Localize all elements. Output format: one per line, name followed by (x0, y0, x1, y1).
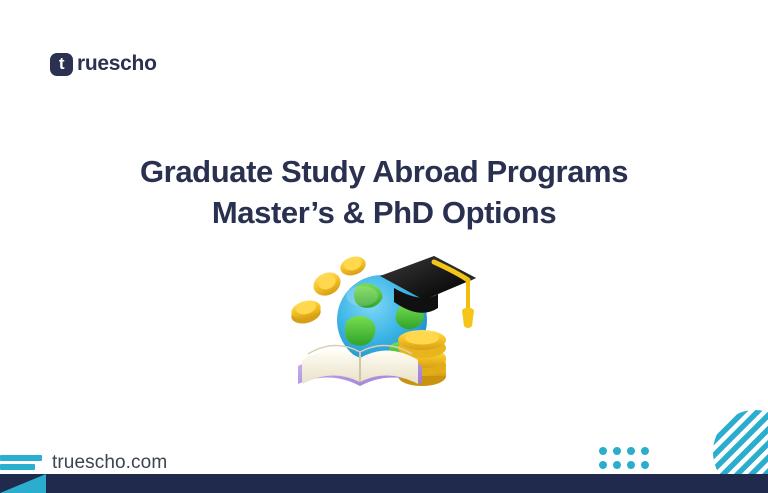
accent-bar-bottom (0, 464, 35, 470)
grid-dot (627, 461, 635, 469)
grid-dot (613, 461, 621, 469)
grid-dot (599, 447, 607, 455)
page-title-line-2: Master’s & PhD Options (0, 193, 768, 234)
floating-coin-icon (310, 268, 345, 300)
grid-dot (641, 447, 649, 455)
page-title-line-1: Graduate Study Abroad Programs (0, 152, 768, 193)
footer-website-url[interactable]: truescho.com (52, 452, 167, 474)
floating-coin-icon (289, 297, 323, 326)
grid-dot (641, 461, 649, 469)
footer-accent-bars (0, 455, 42, 475)
bottom-bar-accent-wedge (0, 474, 46, 493)
logo-mark-icon: t (50, 53, 73, 76)
brand-logo[interactable]: t ruescho (50, 52, 157, 76)
grid-dot (627, 447, 635, 455)
grid-dot (599, 461, 607, 469)
slide-canvas: t ruescho Graduate Study Abroad Programs… (0, 0, 768, 493)
accent-bar-top (0, 455, 42, 461)
bottom-bar (0, 474, 768, 493)
dot-grid-decoration (599, 447, 649, 469)
grid-dot (613, 447, 621, 455)
page-title: Graduate Study Abroad Programs Master’s … (0, 152, 768, 234)
study-abroad-illustration (284, 248, 484, 393)
floating-coin-icon (338, 253, 368, 278)
brand-name: ruescho (77, 52, 157, 76)
